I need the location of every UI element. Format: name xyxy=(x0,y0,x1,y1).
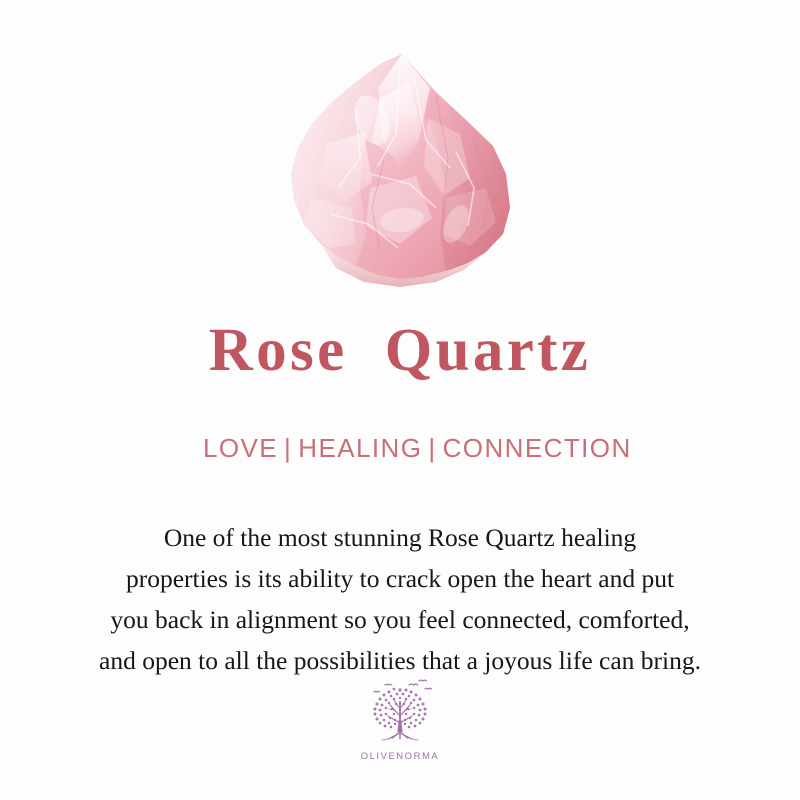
keyword-healing: HEALING xyxy=(298,433,422,463)
description-line-3: you back in alignment so you feel connec… xyxy=(30,599,770,640)
rose-quartz-crystal-icon xyxy=(260,48,540,298)
brand-wordmark: OLIVENORMA xyxy=(361,752,440,762)
keyword-separator-1: | xyxy=(278,433,298,463)
bird-flock-icon xyxy=(374,680,432,692)
page-title: Rose Quartz xyxy=(209,320,591,381)
tree-of-life-icon xyxy=(361,676,439,750)
keyword-love: LOVE xyxy=(203,433,278,463)
crystal-image-area xyxy=(0,0,800,320)
keyword-separator-2: | xyxy=(422,433,442,463)
brand-logo: OLIVENORMA xyxy=(0,676,800,762)
keyword-list: LOVE|HEALING|CONNECTION xyxy=(168,409,631,487)
tree-roots xyxy=(382,732,418,740)
description-line-4: and open to all the possibilities that a… xyxy=(30,640,770,681)
description-line-2: properties is its ability to crack open … xyxy=(30,558,770,599)
description-line-1: One of the most stunning Rose Quartz hea… xyxy=(30,517,770,558)
product-description: One of the most stunning Rose Quartz hea… xyxy=(30,517,770,681)
product-info-card: Rose Quartz LOVE|HEALING|CONNECTION One … xyxy=(0,0,800,800)
keyword-connection: CONNECTION xyxy=(443,433,632,463)
